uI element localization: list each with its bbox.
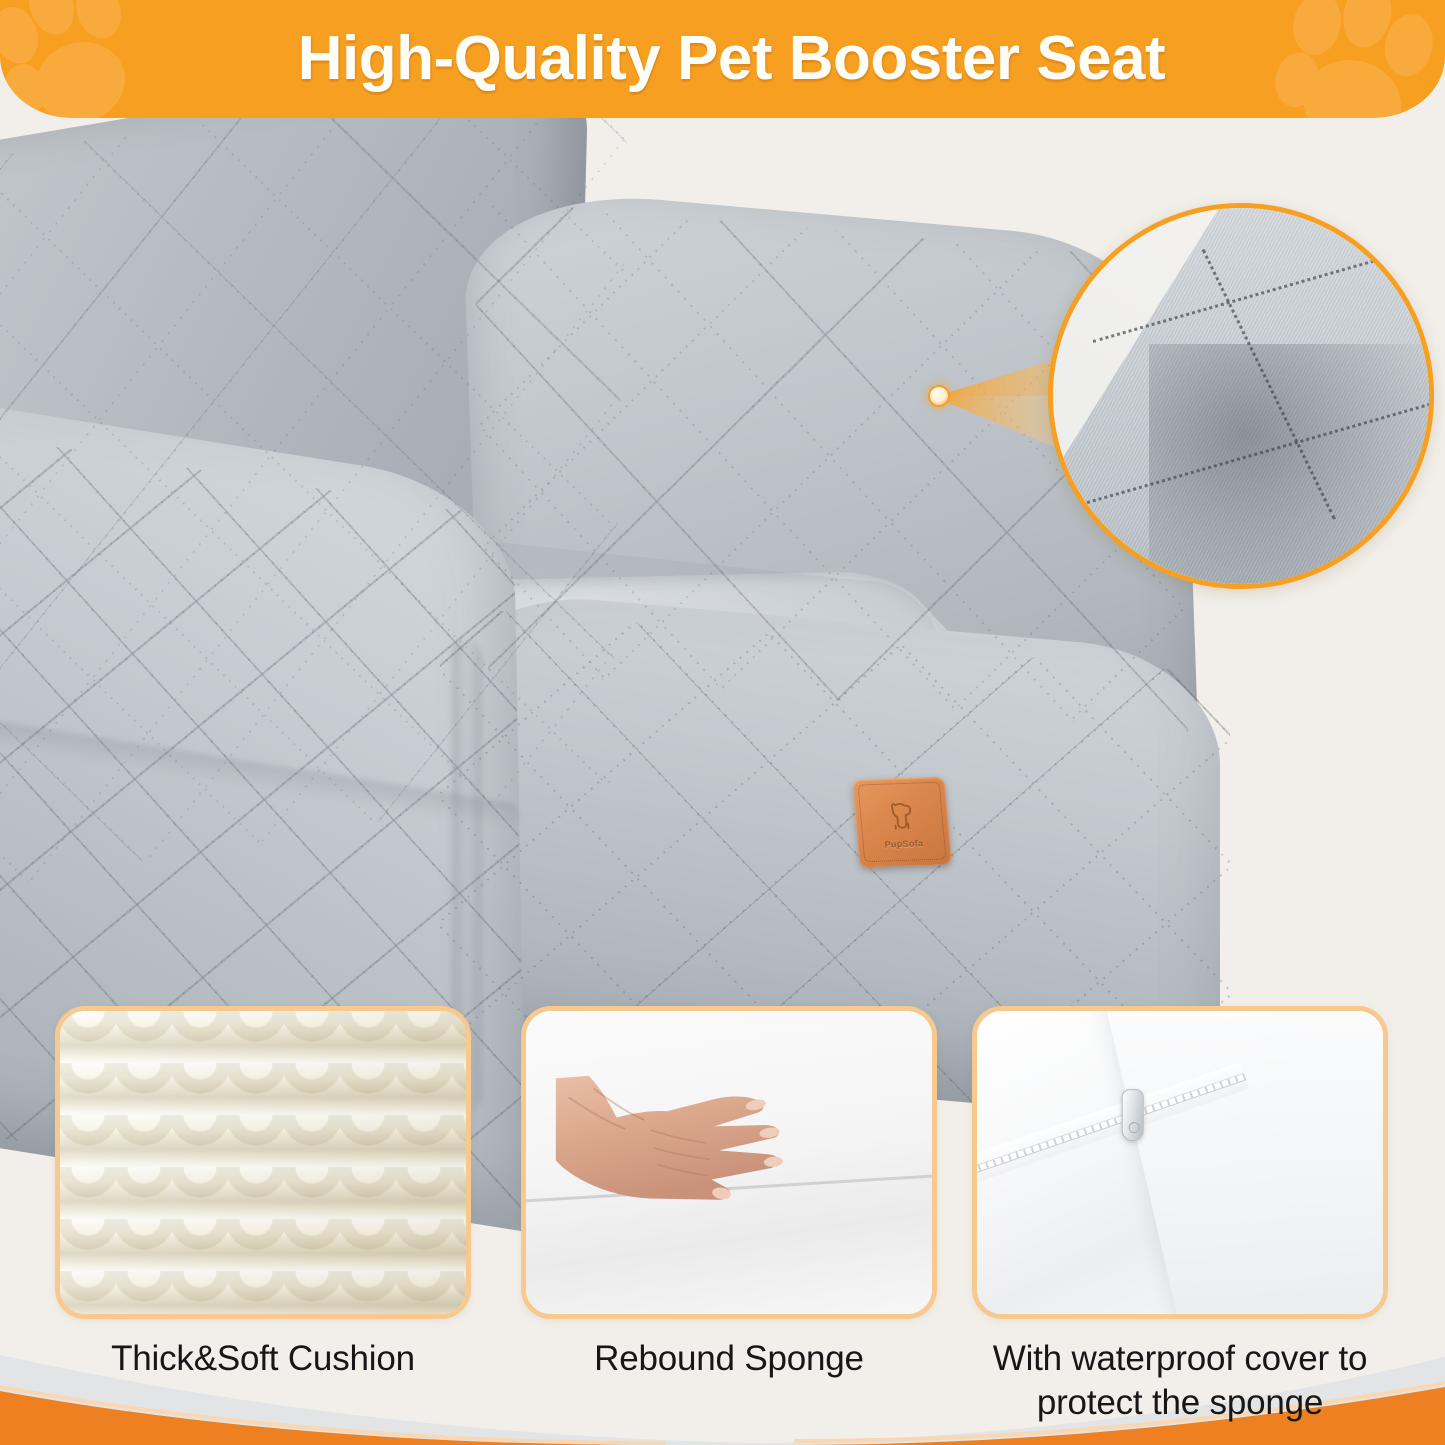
- page-title: High-Quality Pet Booster Seat: [0, 28, 1445, 90]
- caption-sponge: Rebound Sponge: [521, 1337, 937, 1381]
- caption-cover: With waterproof cover to protect the spo…: [952, 1337, 1408, 1425]
- feature-panel-cover[interactable]: [972, 1006, 1388, 1319]
- magnifier-callout: [1048, 203, 1434, 589]
- feature-panel-cushion[interactable]: [55, 1006, 471, 1319]
- caption-cover-line1: With waterproof cover to: [952, 1337, 1408, 1381]
- product-infographic: PupSofa: [0, 0, 1445, 1445]
- feature-panel-sponge[interactable]: [521, 1006, 937, 1319]
- hand-pressing-icon: [521, 1072, 867, 1217]
- zipper-pull: [1121, 1089, 1143, 1141]
- brand-leather-tag: PupSofa: [852, 777, 952, 868]
- magnifier-shadow: [1149, 344, 1434, 589]
- feature-panels: [0, 1000, 1445, 1330]
- caption-cover-line2: protect the sponge: [952, 1381, 1408, 1425]
- dog-silhouette-icon: [883, 799, 920, 832]
- panel-captions: Thick&Soft Cushion Rebound Sponge With w…: [0, 1333, 1445, 1445]
- zoom-marker-dot-icon: [928, 385, 950, 407]
- header-banner: High-Quality Pet Booster Seat: [0, 0, 1445, 118]
- caption-cushion: Thick&Soft Cushion: [55, 1337, 471, 1381]
- egg-crate-foam-image: [60, 1011, 466, 1314]
